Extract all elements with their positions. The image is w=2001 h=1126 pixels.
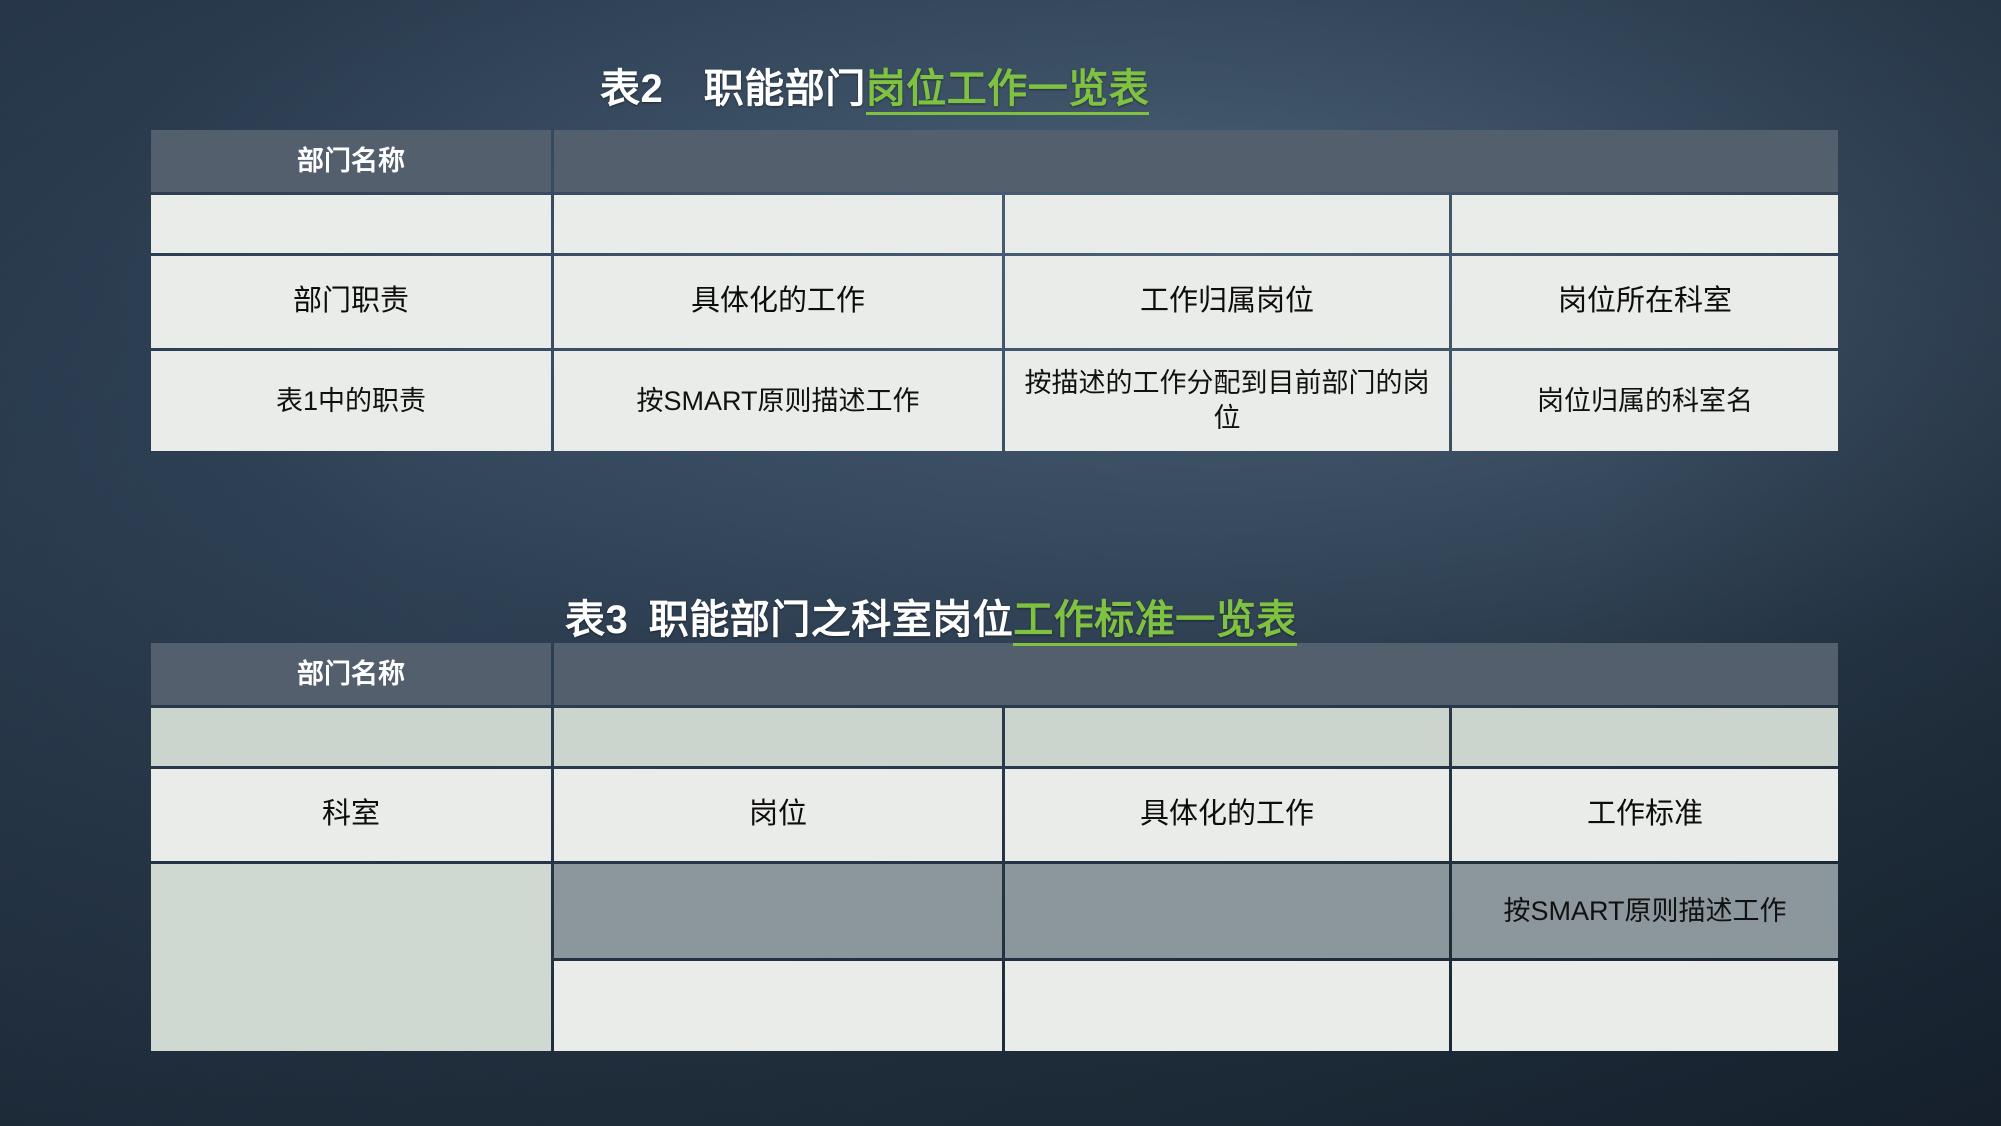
table2-cell-position[interactable]: 按描述的工作分配到目前部门的岗位 [1005,351,1449,451]
table3-blank-row [151,708,1838,766]
table2-title-highlight: 岗位工作一览表 [866,67,1150,115]
table-row: 表1中的职责 按SMART原则描述工作 按描述的工作分配到目前部门的岗位 岗位归… [151,351,1838,451]
table3-header-row: 部门名称 [151,643,1838,705]
table2-title: 表2 职能部门岗位工作一览表 [600,56,1149,114]
table3-title: 表3 职能部门之科室岗位工作标准一览表 [565,587,1297,645]
table2: 部门名称 部门职责 具体化的工作 工作归属岗位 岗位所在科室 表1中的职责 按S… [148,127,1841,454]
table3-cell-work[interactable] [1005,864,1449,958]
table2-col-header-1: 部门职责 [151,256,551,348]
slide-canvas: 表2 职能部门岗位工作一览表 部门名称 部门职责 具体化的工作 工作归 [0,0,2001,1126]
table2-cell-office[interactable]: 岗位归属的科室名 [1452,351,1838,451]
table3-cell-work-2[interactable] [1005,961,1449,1051]
table3-department-name-label: 部门名称 [151,643,551,705]
table2-blank-cell-1[interactable] [151,195,551,253]
table3: 部门名称 科室 岗位 具体化的工作 工作标准 按SMART原则描述工作 [148,640,1841,1054]
table2-cell-duty[interactable]: 表1中的职责 [151,351,551,451]
table3-blank-cell-4[interactable] [1452,708,1838,766]
table3-cell-position[interactable] [554,864,1002,958]
table3-col-header-2: 岗位 [554,769,1002,861]
table3-col-header-1: 科室 [151,769,551,861]
table2-blank-cell-4[interactable] [1452,195,1838,253]
table3-title-prefix: 表3 职能部门之科室岗位 [565,598,1013,642]
table3-cell-standard[interactable]: 按SMART原则描述工作 [1452,864,1838,958]
table2-header-row: 部门名称 [151,130,1838,192]
table2-title-prefix: 表2 职能部门 [600,67,866,111]
table3-blank-cell-2[interactable] [554,708,1002,766]
table2-blank-row [151,195,1838,253]
table3-title-highlight: 工作标准一览表 [1013,598,1297,646]
table2-col-header-4: 岗位所在科室 [1452,256,1838,348]
table3-blank-cell-3[interactable] [1005,708,1449,766]
table2-department-name-value[interactable] [554,130,1838,192]
table3-col-header-3: 具体化的工作 [1005,769,1449,861]
table3-cell-office-merged[interactable] [151,864,551,1051]
table3-blank-cell-1[interactable] [151,708,551,766]
table3-cell-position-2[interactable] [554,961,1002,1051]
table2-blank-cell-2[interactable] [554,195,1002,253]
table3-department-name-value[interactable] [554,643,1838,705]
table3-col-header-4: 工作标准 [1452,769,1838,861]
table2-department-name-label: 部门名称 [151,130,551,192]
table2-blank-cell-3[interactable] [1005,195,1449,253]
table3-column-header-row: 科室 岗位 具体化的工作 工作标准 [151,769,1838,861]
table2-col-header-3: 工作归属岗位 [1005,256,1449,348]
table2-col-header-2: 具体化的工作 [554,256,1002,348]
table-row: 按SMART原则描述工作 [151,864,1838,958]
table2-cell-work[interactable]: 按SMART原则描述工作 [554,351,1002,451]
table2-column-header-row: 部门职责 具体化的工作 工作归属岗位 岗位所在科室 [151,256,1838,348]
table3-cell-standard-2[interactable] [1452,961,1838,1051]
